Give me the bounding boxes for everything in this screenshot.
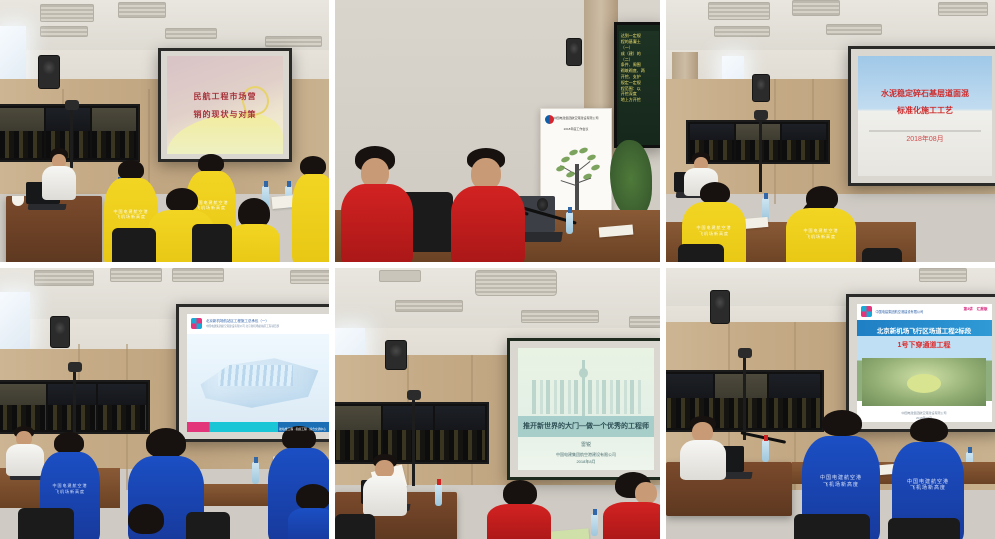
microphone-head-icon	[537, 198, 548, 211]
slide-panel-3: 水泥稳定碎石基层道面混 标准化施工工艺 2018年08月	[858, 56, 991, 177]
presenter-torso	[680, 440, 726, 480]
remote-audience-feed	[48, 405, 96, 430]
shirt-text: 中国电建航空港飞机场新高度	[682, 225, 746, 236]
photo-top-center: 达到一定规程的基凝土（一）成（建）的（二）条件、周围砌筑砌底、两开挖、支护规定一…	[335, 0, 660, 262]
attendee-torso	[228, 224, 280, 262]
ceiling-vent	[165, 28, 217, 39]
shirt-text: 中国电建航空港飞机场新高度	[786, 228, 856, 239]
attendee-hair	[700, 182, 730, 204]
slide-organization: 中国电建集团航空港建设有限公司	[518, 452, 655, 458]
speaker-icon	[752, 74, 770, 102]
projection-screen: 达到一定规程的基凝土（一）成（建）的（二）条件、周围砌筑砌底、两开挖、支护规定一…	[614, 22, 660, 148]
screen-surface: 水泥稳定碎石基层道面混 标准化施工工艺 2018年08月	[858, 56, 991, 177]
conference-camera-icon	[407, 390, 421, 400]
speaker-torso	[451, 186, 525, 262]
poster-company-line: 中国电建集团航空港建设有限公司	[544, 116, 608, 120]
slide-presenter: 雷锐	[518, 441, 655, 448]
tree-leaf	[566, 171, 576, 179]
shirt-text: 中国电建航空港飞机场新高度	[892, 479, 964, 493]
attendee	[288, 484, 329, 539]
slide-title-band: 北京新机场飞行区场道工程2标段	[857, 320, 992, 335]
company-logo-icon	[861, 306, 872, 317]
attendee-head	[635, 482, 657, 504]
conference-camera-icon	[65, 100, 79, 110]
projection-screen: 北京新机场航站区工程施工总承包（一） 中国电建集团航空港建设有限公司 北京新机场…	[176, 304, 329, 442]
slide-title-line-1: 水泥稳定碎石基层道面混	[881, 88, 969, 99]
attendee	[603, 472, 660, 539]
attendee-hair	[128, 504, 164, 534]
runway-marking	[869, 130, 981, 132]
screen-surface: 北京新机场航站区工程施工总承包（一） 中国电建集团航空港建设有限公司 北京新机场…	[187, 314, 329, 433]
slide-footer-note: 航站楼工程 · 指廊工程 · 综合交通中心	[279, 427, 326, 431]
ceiling-vent	[714, 26, 770, 37]
slide-date: 2018年8月	[518, 459, 655, 465]
ceiling-vent	[379, 270, 421, 282]
presenter-head	[692, 422, 713, 442]
attendee-hair	[118, 160, 144, 180]
ceiling-vent	[629, 316, 660, 328]
slide-panel-6: 中国电建集团航空港建设有限公司 第3讲 汇报版 北京新机场飞行区场道工程2标段 …	[857, 304, 992, 423]
photo-bottom-left: 北京新机场航站区工程施工总承包（一） 中国电建集团航空港建设有限公司 北京新机场…	[0, 268, 329, 539]
attendee-hair	[300, 156, 326, 176]
aerial-airport-photo	[862, 358, 986, 406]
ceiling-vent	[172, 268, 224, 282]
ceiling-vent	[118, 2, 166, 18]
ceiling-vent	[826, 24, 882, 35]
ceiling-vent	[110, 268, 162, 282]
monitor-screen	[736, 124, 780, 160]
collage-panel-6[interactable]: 中国电建集团航空港建设有限公司 第3讲 汇报版 北京新机场飞行区场道工程2标段 …	[663, 265, 995, 539]
chair	[112, 228, 156, 262]
water-bottle	[591, 514, 598, 536]
collage-panel-5[interactable]: 推开新世界的大门—做一个优秀的工程师 雷锐 中国电建集团航空港建设有限公司 20…	[332, 265, 663, 539]
speaker-red-center	[451, 148, 525, 262]
ceiling-vent	[919, 268, 967, 282]
photo-collage: 民航工程市场营 销的现状与对策	[0, 0, 995, 539]
presenter	[680, 416, 726, 476]
tree-leaf	[591, 163, 601, 171]
attendee-torso: 中国电建航空港飞机场新高度	[786, 208, 856, 262]
tree-branch	[561, 180, 577, 186]
slide-panel-5: 推开新世界的大门—做一个优秀的工程师 雷锐 中国电建集团航空港建设有限公司 20…	[518, 348, 655, 470]
conference-camera-icon	[738, 348, 752, 358]
camera-stand	[759, 120, 762, 192]
city-skyline-graphic	[529, 380, 644, 414]
ceiling-vent	[290, 270, 329, 284]
photo-top-left: 民航工程市场营 销的现状与对策	[0, 0, 329, 262]
tree-leaf	[587, 153, 597, 161]
projection-screen: 推开新世界的大门—做一个优秀的工程师 雷锐 中国电建集团航空港建设有限公司 20…	[507, 338, 660, 480]
notebook	[549, 528, 590, 539]
attendee-torso	[603, 502, 660, 539]
remote-audience-feed	[92, 131, 136, 159]
chair	[888, 518, 960, 539]
shirt-text: 中国电建航空港飞机场新高度	[802, 475, 880, 489]
photo-bottom-center: 推开新世界的大门—做一个优秀的工程师 雷锐 中国电建集团航空港建设有限公司 20…	[335, 268, 660, 539]
photo-top-right: 水泥稳定碎石基层道面混 标准化施工工艺 2018年08月	[666, 0, 995, 262]
company-logo-icon	[191, 318, 202, 329]
tree-leaf	[560, 155, 570, 163]
window	[0, 292, 30, 350]
slide-panel-4: 北京新机场航站区工程施工总承包（一） 中国电建集团航空港建设有限公司 北京新机场…	[187, 314, 329, 433]
ceiling-vent	[521, 310, 599, 323]
conference-camera-icon	[68, 362, 82, 372]
water-bottle	[566, 212, 573, 234]
trainee-hair	[910, 418, 948, 442]
ceiling-vent	[265, 36, 322, 47]
speaker-icon	[710, 290, 730, 324]
water-bottle	[435, 484, 442, 506]
screen-surface: 民航工程市场营 销的现状与对策	[167, 56, 282, 153]
attendee-hair	[166, 188, 198, 212]
slide-header-company: 中国电建集团航空港建设有限公司	[876, 309, 924, 314]
remote-audience-feed	[98, 405, 146, 430]
collage-panel-4[interactable]: 北京新机场航站区工程施工总承包（一） 中国电建集团航空港建设有限公司 北京新机场…	[0, 265, 332, 539]
attendee-front: 中国电建航空港飞机场新高度	[786, 186, 856, 262]
slide-panel-2: 达到一定规程的基凝土（一）成（建）的（二）条件、周围砌筑砌底、两开挖、支护规定一…	[619, 31, 659, 139]
monitor-screen	[92, 108, 136, 158]
attendee	[487, 480, 551, 539]
slide-tag-2: 汇报版	[977, 307, 988, 312]
tree-leaf	[556, 164, 566, 172]
tower-landmark-icon	[582, 360, 585, 416]
monitor-screen	[48, 384, 96, 430]
presenter	[6, 426, 44, 474]
ceiling-vent	[938, 2, 988, 16]
chair	[192, 224, 232, 262]
ceiling-vent	[40, 4, 94, 22]
chair	[794, 514, 870, 539]
tree-leaf	[578, 147, 588, 155]
attendee	[292, 156, 329, 262]
ceiling-ac-unit	[475, 270, 557, 296]
water-bottle	[762, 440, 769, 462]
conference-camera-icon	[754, 110, 768, 120]
slide-date: 2018年08月	[906, 134, 943, 144]
slide-panel-1: 民航工程市场营 销的现状与对策	[167, 56, 282, 153]
projection-screen: 水泥稳定碎石基层道面混 标准化施工工艺 2018年08月	[848, 46, 995, 186]
attendee-torso	[487, 504, 551, 539]
attendee-hair	[503, 480, 537, 506]
ceiling-vent	[708, 2, 770, 20]
tree-leaf	[568, 149, 578, 157]
trainee-hair	[822, 410, 862, 436]
slide-title-line-2: 销的现状与对策	[194, 109, 257, 120]
collage-panel-2[interactable]: 达到一定规程的基凝土（一）成（建）的（二）条件、周围砌筑砌底、两开挖、支护规定一…	[332, 0, 663, 265]
attendee-hair	[296, 484, 329, 510]
slide-band-title: 北京新机场飞行区场道工程2标段	[877, 328, 972, 335]
presenter-torso	[42, 166, 76, 200]
monitor-screen	[435, 406, 485, 460]
remote-audience-feed	[736, 140, 780, 160]
presenter-torso	[6, 444, 44, 476]
monitor-screen	[782, 124, 826, 160]
attendee-torso	[341, 184, 413, 262]
attendee	[118, 504, 176, 539]
slide-title-line-2: 标准化施工工艺	[897, 105, 953, 116]
presenter	[42, 148, 76, 198]
slide-title-line-1: 民航工程市场营	[194, 91, 257, 102]
ceiling-vent	[34, 270, 94, 286]
ceiling-vent	[40, 26, 88, 37]
attendee-hair	[806, 186, 838, 210]
slide-header-subtitle: 中国电建集团航空港建设有限公司 北京新机场航站区工程项目部	[206, 324, 279, 328]
screen-surface: 推开新世界的大门—做一个优秀的工程师 雷锐 中国电建集团航空港建设有限公司 20…	[518, 348, 655, 470]
slide-red-title: 1号下穿通道工程	[857, 340, 992, 350]
chair	[335, 514, 375, 539]
attendee-torso	[288, 508, 329, 539]
slide-line-12: 地上方开挖	[621, 97, 641, 103]
camera-stand	[743, 358, 746, 440]
monitor-screen	[383, 406, 433, 460]
collage-panel-1[interactable]: 民航工程市场营 销的现状与对策	[0, 0, 332, 265]
remote-audience-feed	[0, 131, 44, 159]
collage-panel-3[interactable]: 水泥稳定碎石基层道面混 标准化施工工艺 2018年08月	[663, 0, 995, 265]
attendee-hair	[146, 428, 186, 458]
camera-stand	[412, 400, 415, 486]
water-bottle	[252, 462, 259, 484]
monitor-screen	[0, 384, 46, 430]
attendee-red-left	[341, 146, 413, 262]
photo-bottom-right: 中国电建集团航空港建设有限公司 第3讲 汇报版 北京新机场飞行区场道工程2标段 …	[666, 268, 995, 539]
slide-main-title: 推开新世界的大门—做一个优秀的工程师	[518, 421, 655, 431]
speaker-icon	[385, 340, 407, 370]
chair	[18, 508, 74, 539]
monitor-screen	[98, 384, 146, 430]
speaker-icon	[38, 55, 60, 89]
poster-event-line: 2018年度工作会议	[544, 127, 608, 131]
shirt-text: 中国电建航空港飞机场新高度	[40, 483, 100, 494]
monitor-screen	[0, 108, 44, 158]
chair	[186, 512, 230, 539]
ceiling-vent	[792, 0, 840, 16]
speaker-icon	[50, 316, 70, 348]
lecturer-torso	[363, 476, 407, 516]
attendee-torso	[292, 174, 329, 262]
monitor-screen	[335, 406, 381, 460]
projection-screen: 民航工程市场营 销的现状与对策	[158, 48, 292, 162]
attendee	[228, 198, 280, 262]
lecturer	[363, 454, 407, 512]
slide-tags: 第3讲 汇报版	[963, 307, 987, 312]
airport-terminal-rendering	[195, 344, 323, 413]
remote-audience-feed	[435, 430, 485, 460]
attendee-hair	[54, 432, 84, 454]
remote-audience-feed	[782, 140, 826, 160]
chair	[862, 248, 902, 262]
screen-surface: 中国电建集团航空港建设有限公司 第3讲 汇报版 北京新机场飞行区场道工程2标段 …	[857, 304, 992, 423]
slide-tag-1: 第3讲	[963, 307, 972, 312]
slide-header: 北京新机场航站区工程施工总承包（一） 中国电建集团航空港建设有限公司 北京新机场…	[187, 314, 329, 334]
chair	[678, 244, 724, 262]
speaker-icon	[566, 38, 582, 66]
ceiling-vent	[395, 300, 463, 312]
screen-surface: 达到一定规程的基凝土（一）成（建）的（二）条件、周围砌筑砌底、两开挖、支护规定一…	[619, 31, 659, 139]
